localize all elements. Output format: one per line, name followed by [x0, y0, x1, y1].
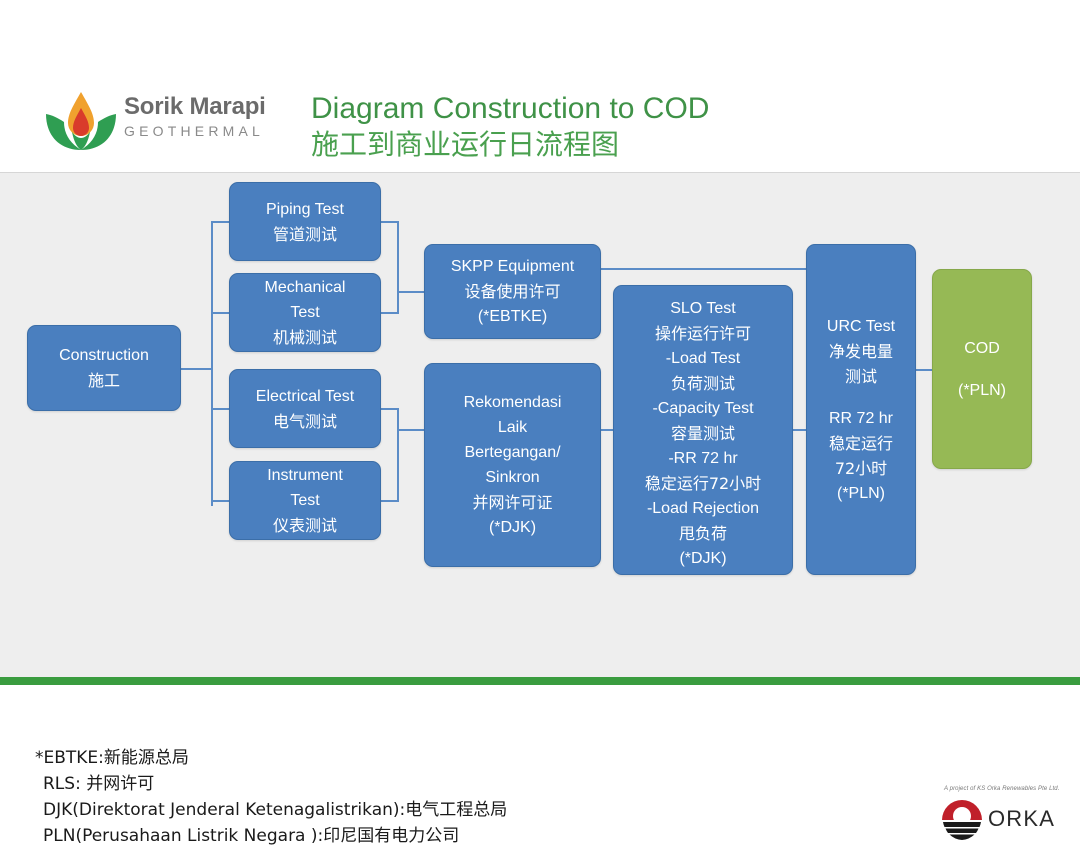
page-title: Diagram Construction to COD 施工到商业运行日流程图 — [311, 90, 709, 163]
slide-canvas: Sorik Marapi GEOTHERMAL Diagram Construc… — [0, 0, 1080, 763]
node-slo-line2: 操作运行许可 — [655, 321, 751, 346]
connector-mechanical-out — [379, 312, 399, 314]
orka-wordmark: ORKA — [988, 806, 1055, 832]
orka-sun-waves-logo-icon — [940, 798, 984, 842]
connector-piping-out — [379, 221, 399, 223]
node-urc-line5: 稳定运行 — [829, 431, 893, 456]
node-electrical-test[interactable]: Electrical Test 电气测试 — [229, 369, 381, 448]
node-urc-line1: URC Test — [827, 314, 895, 339]
connector-rekomendasi-join-bus — [397, 408, 399, 501]
node-mechanical-test[interactable]: Mechanical Test 机械测试 — [229, 273, 381, 352]
node-rekomendasi-line3: Bertegangan/ — [464, 440, 560, 465]
connector-electrical-out — [379, 408, 399, 410]
node-piping-line1: Piping Test — [266, 197, 344, 222]
node-mechanical-line1: Mechanical — [265, 275, 346, 300]
connector-construction-bus — [180, 368, 213, 370]
logo-company-name: Sorik Marapi — [124, 94, 266, 120]
node-urc-line7: (*PLN) — [837, 481, 885, 506]
node-urc-test[interactable]: URC Test 净发电量 测试 RR 72 hr 稳定运行 72小时 (*PL… — [806, 244, 916, 575]
orka-tagline: A project of KS Orka Renewables Pte Ltd. — [944, 786, 1060, 792]
legend-line-ebtke: *EBTKE:新能源总局 — [35, 745, 507, 771]
node-slo-line5: -Capacity Test — [652, 396, 753, 421]
node-construction-line1: Construction — [59, 343, 149, 368]
node-instrument-line2: Test — [290, 488, 319, 513]
orka-logo: A project of KS Orka Renewables Pte Ltd.… — [930, 786, 1072, 846]
node-rekomendasi-line4: Sinkron — [485, 465, 539, 490]
node-rekomendasi-line5: 并网许可证 — [472, 490, 552, 515]
connector-to-mechanical — [211, 312, 231, 314]
node-instrument-test[interactable]: Instrument Test 仪表测试 — [229, 461, 381, 540]
node-slo-line1: SLO Test — [670, 296, 736, 321]
connector-to-instrument — [211, 500, 231, 502]
node-instrument-line1: Instrument — [267, 463, 343, 488]
node-instrument-line3: 仪表测试 — [273, 513, 337, 538]
node-rekomendasi-line1: Rekomendasi — [464, 390, 562, 415]
legend-line-pln: PLN(Perusahaan Listrik Negara ):印尼国有电力公司 — [35, 823, 507, 849]
connector-skpp-join-bus — [397, 221, 399, 313]
logo-text-block: Sorik Marapi GEOTHERMAL — [124, 94, 266, 140]
node-urc-line3: 测试 — [845, 364, 877, 389]
connector-join-to-skpp — [397, 291, 424, 293]
node-piping-test[interactable]: Piping Test 管道测试 — [229, 182, 381, 261]
node-slo-test[interactable]: SLO Test 操作运行许可 -Load Test 负荷测试 -Capacit… — [613, 285, 793, 575]
node-cod-line2: (*PLN) — [958, 378, 1006, 403]
node-slo-line8: 稳定运行72小时 — [645, 471, 761, 496]
connector-skpp-to-urc — [601, 268, 806, 270]
node-urc-line2: 净发电量 — [829, 339, 893, 364]
node-construction[interactable]: Construction 施工 — [27, 325, 181, 411]
node-mechanical-line3: 机械测试 — [273, 325, 337, 350]
node-skpp-line3: (*EBTKE) — [478, 304, 547, 329]
node-mechanical-line2: Test — [290, 300, 319, 325]
node-urc-line4: RR 72 hr — [829, 406, 893, 431]
connector-to-piping — [211, 221, 231, 223]
connector-to-electrical — [211, 408, 231, 410]
node-slo-line9: -Load Rejection — [647, 496, 759, 521]
node-cod[interactable]: COD (*PLN) — [932, 269, 1032, 469]
company-logo: Sorik Marapi GEOTHERMAL — [42, 88, 287, 158]
node-construction-line2: 施工 — [88, 368, 120, 393]
node-piping-line2: 管道测试 — [273, 222, 337, 247]
node-skpp-equipment[interactable]: SKPP Equipment 设备使用许可 (*EBTKE) — [424, 244, 601, 339]
node-skpp-line2: 设备使用许可 — [464, 279, 560, 304]
node-slo-line10: 甩负荷 — [679, 521, 727, 546]
node-electrical-line1: Electrical Test — [256, 384, 354, 409]
node-slo-line6: 容量测试 — [671, 421, 735, 446]
logo-company-subtitle: GEOTHERMAL — [124, 122, 266, 140]
diagram-panel: Construction 施工 Piping Test 管道测试 Mechani… — [0, 172, 1080, 678]
node-rekomendasi-line2: Laik — [498, 415, 527, 440]
node-rekomendasi[interactable]: Rekomendasi Laik Bertegangan/ Sinkron 并网… — [424, 363, 601, 567]
node-skpp-line1: SKPP Equipment — [451, 254, 574, 279]
node-cod-line1: COD — [964, 336, 1000, 361]
node-slo-line11: (*DJK) — [679, 546, 726, 571]
legend-block: *EBTKE:新能源总局 RLS: 并网许可 DJK(Direktorat Je… — [35, 745, 507, 849]
legend-line-djk: DJK(Direktorat Jenderal Ketenagalistrika… — [35, 797, 507, 823]
connector-tests-vertical-bus — [211, 221, 213, 506]
connector-instrument-out — [379, 500, 399, 502]
bottom-green-bar — [0, 677, 1080, 685]
slide-header: Sorik Marapi GEOTHERMAL Diagram Construc… — [0, 0, 1080, 172]
node-rekomendasi-line6: (*DJK) — [489, 515, 536, 540]
legend-line-rls: RLS: 并网许可 — [35, 771, 507, 797]
sorik-marapi-flame-logo-icon — [42, 88, 120, 154]
node-slo-line7: -RR 72 hr — [668, 446, 737, 471]
connector-urc-to-cod — [915, 369, 932, 371]
node-slo-line3: -Load Test — [666, 346, 740, 371]
node-urc-line6: 72小时 — [835, 456, 887, 481]
node-electrical-line2: 电气测试 — [273, 409, 337, 434]
node-slo-line4: 负荷测试 — [671, 371, 735, 396]
page-title-chinese: 施工到商业运行日流程图 — [311, 127, 709, 163]
connector-join-to-rekomendasi — [397, 429, 424, 431]
page-title-english: Diagram Construction to COD — [311, 90, 709, 127]
